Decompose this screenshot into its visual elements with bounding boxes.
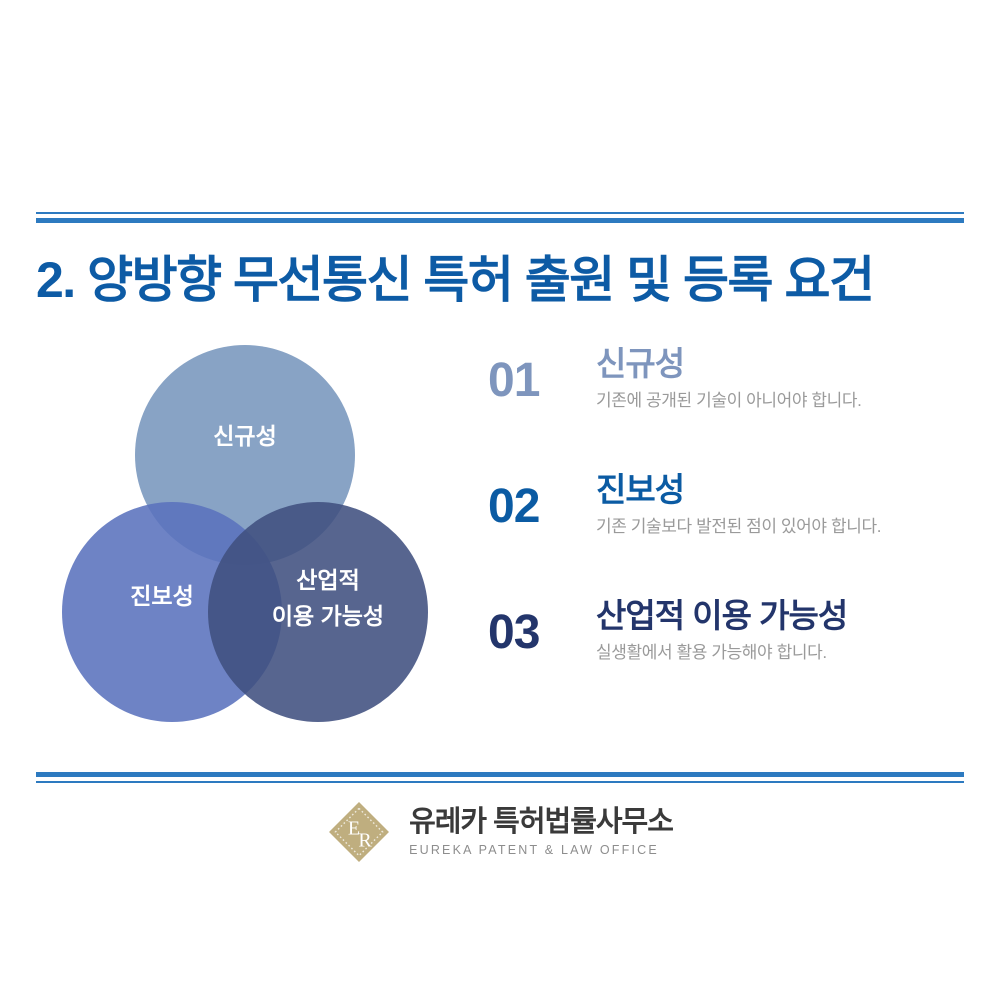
requirement-description: 실생활에서 활용 가능해야 합니다. [596, 641, 968, 665]
footer-logo: E R 유레카 특허법률사무소 EUREKA PATENT & LAW OFFI… [0, 800, 1000, 864]
venn-diagram: 신규성 진보성 산업적 이용 가능성 [40, 330, 460, 740]
requirement-list: 01 신규성 기존에 공개된 기술이 아니어야 합니다. 02 진보성 기존 기… [488, 345, 968, 723]
requirement-body: 산업적 이용 가능성 실생활에서 활용 가능해야 합니다. [596, 597, 968, 665]
divider-top-thick-rule [36, 218, 964, 223]
divider-top [36, 212, 964, 223]
firm-name-en: EUREKA PATENT & LAW OFFICE [409, 844, 673, 857]
slide-canvas: 2. 양방향 무선통신 특허 출원 및 등록 요건 신규성 진보성 산업적 이용… [0, 0, 1000, 1000]
requirement-description: 기존에 공개된 기술이 아니어야 합니다. [596, 389, 968, 413]
page-title: 2. 양방향 무선통신 특허 출원 및 등록 요건 [36, 240, 964, 312]
eureka-diamond-logo-icon: E R [327, 800, 391, 864]
firm-name-ko: 유레카 특허법률사무소 [409, 808, 673, 837]
requirement-item-novelty: 01 신규성 기존에 공개된 기술이 아니어야 합니다. [488, 345, 968, 441]
venn-label-industrial-applicability-line1: 산업적 [296, 567, 359, 593]
logo-monogram-r: R [358, 830, 372, 852]
requirement-body: 신규성 기존에 공개된 기술이 아니어야 합니다. [596, 345, 968, 413]
requirement-title: 신규성 [596, 345, 968, 383]
requirement-item-industrial-applicability: 03 산업적 이용 가능성 실생활에서 활용 가능해야 합니다. [488, 597, 968, 693]
venn-label-inventive-step: 진보성 [130, 583, 193, 609]
requirement-number: 01 [488, 345, 596, 405]
divider-bottom-thin-rule [36, 781, 964, 783]
requirement-number: 02 [488, 471, 596, 531]
requirement-title: 진보성 [596, 471, 968, 509]
requirement-item-inventive-step: 02 진보성 기존 기술보다 발전된 점이 있어야 합니다. [488, 471, 968, 567]
requirement-number: 03 [488, 597, 596, 657]
logo-text-block: 유레카 특허법률사무소 EUREKA PATENT & LAW OFFICE [409, 808, 673, 857]
requirement-body: 진보성 기존 기술보다 발전된 점이 있어야 합니다. [596, 471, 968, 539]
requirement-description: 기존 기술보다 발전된 점이 있어야 합니다. [596, 515, 968, 539]
venn-label-industrial-applicability-line2: 이용 가능성 [272, 603, 384, 629]
venn-label-novelty: 신규성 [213, 423, 276, 449]
divider-bottom [36, 772, 964, 783]
requirement-title: 산업적 이용 가능성 [596, 597, 968, 635]
